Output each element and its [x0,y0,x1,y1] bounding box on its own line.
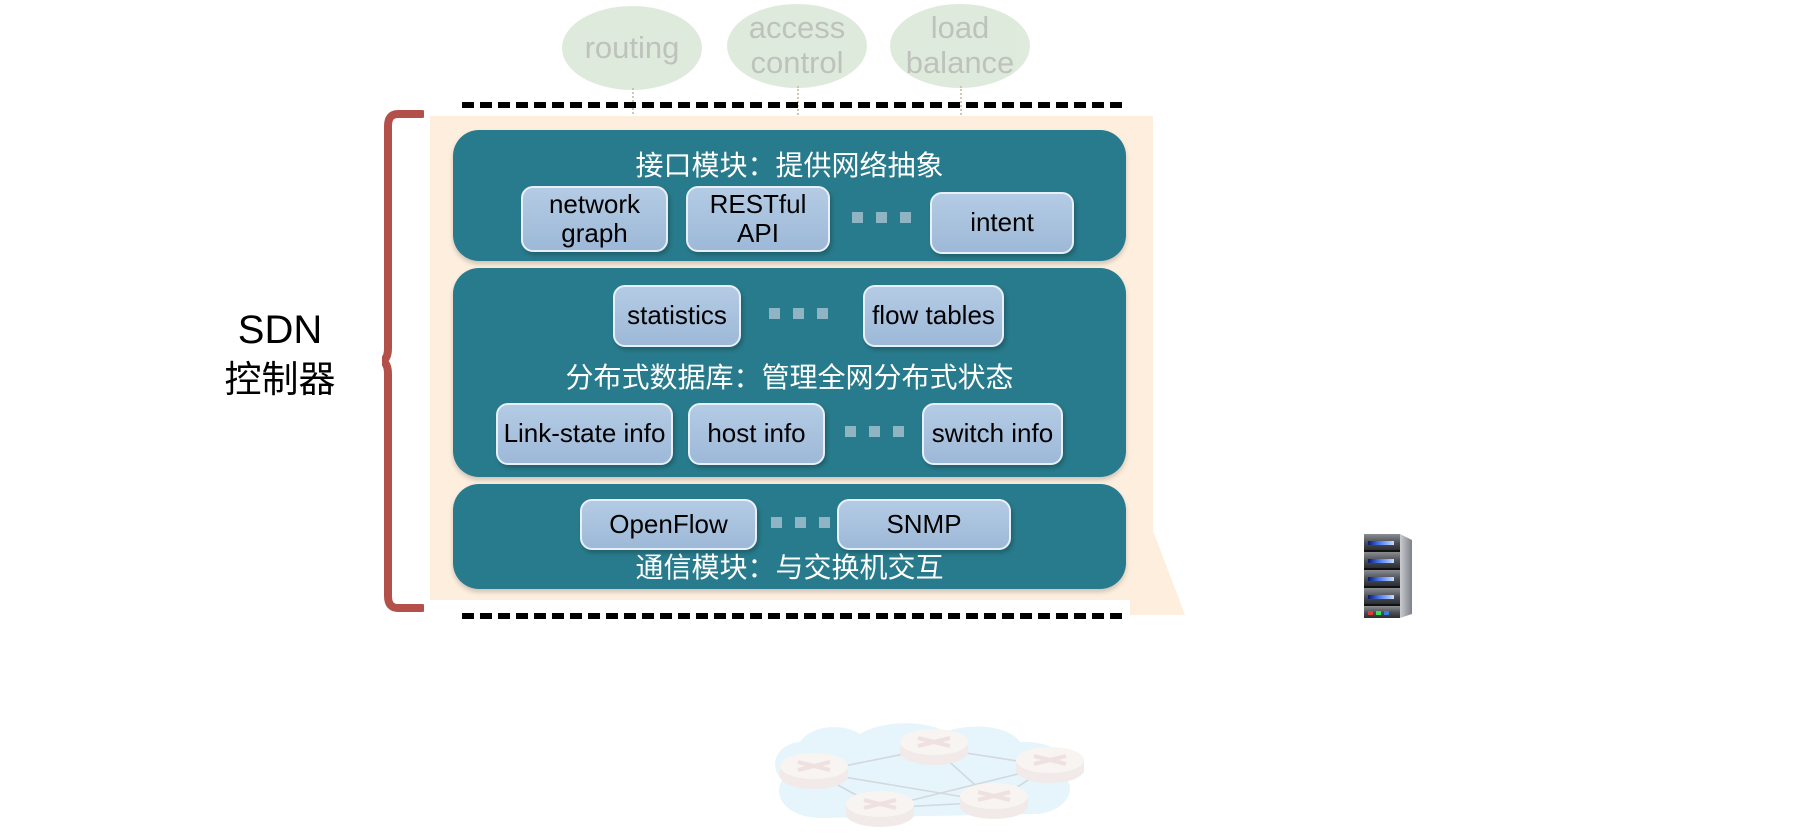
router-icon [1016,747,1084,783]
distributed-database-title: 分布式数据库：管理全网分布式状态 [453,356,1126,396]
chip-restful-api[interactable]: RESTful API [686,186,830,252]
chip-label: intent [970,208,1034,237]
chip-label: statistics [627,301,727,330]
chip-openflow[interactable]: OpenFlow [580,499,757,550]
chip-label: switch info [932,419,1053,448]
chip-switch-info[interactable]: switch info [922,403,1063,465]
controller-body-wedge [1130,470,1185,615]
network-cloud-icon [762,718,1092,834]
application-ellipse-load-balance[interactable]: load balance [890,4,1030,88]
router-icon [900,729,968,765]
controller-bracket [382,110,424,612]
communication-module-title: 通信模块：与交换机交互 [453,546,1126,586]
controller-boundary-top [462,102,1122,108]
chip-flow-tables[interactable]: flow tables [863,285,1004,347]
chip-statistics[interactable]: statistics [613,285,741,347]
chip-label: RESTful API [710,190,807,248]
chip-snmp[interactable]: SNMP [837,499,1011,550]
chip-label: flow tables [872,301,995,330]
chip-link-state-info[interactable]: Link-state info [496,403,673,465]
chip-host-info[interactable]: host info [688,403,825,465]
ellipsis-dots-database-bottom [845,426,904,437]
ellipsis-dots-interface [852,212,911,223]
application-ellipse-access-control[interactable]: access control [727,4,867,88]
application-label: routing [585,31,680,66]
router-icon [780,753,848,789]
chip-label: OpenFlow [609,510,728,539]
application-label: access control [749,11,845,80]
application-label: load balance [906,11,1015,80]
chip-label: host info [707,419,805,448]
controller-boundary-bottom [462,613,1122,619]
chip-network-graph[interactable]: network graph [521,186,668,252]
application-ellipse-routing[interactable]: routing [562,6,702,90]
chip-label: SNMP [886,510,961,539]
chip-intent[interactable]: intent [930,192,1074,254]
server-rack-icon [1362,530,1414,620]
router-icon [846,791,914,827]
ellipsis-dots-communication [771,517,830,528]
sdn-architecture-diagram: routing access control load balance SDN … [0,0,1813,834]
sdn-controller-cn: 控制器 [180,356,380,403]
chip-label: network graph [549,190,640,248]
sdn-acronym: SDN [238,308,322,352]
ellipsis-dots-database-top [769,308,828,319]
sdn-controller-label: SDN 控制器 [180,305,380,404]
router-icon [960,783,1028,819]
chip-label: Link-state info [504,419,666,448]
communication-module-panel[interactable]: 通信模块：与交换机交互 [453,484,1126,589]
interface-module-title: 接口模块：提供网络抽象 [453,144,1126,184]
